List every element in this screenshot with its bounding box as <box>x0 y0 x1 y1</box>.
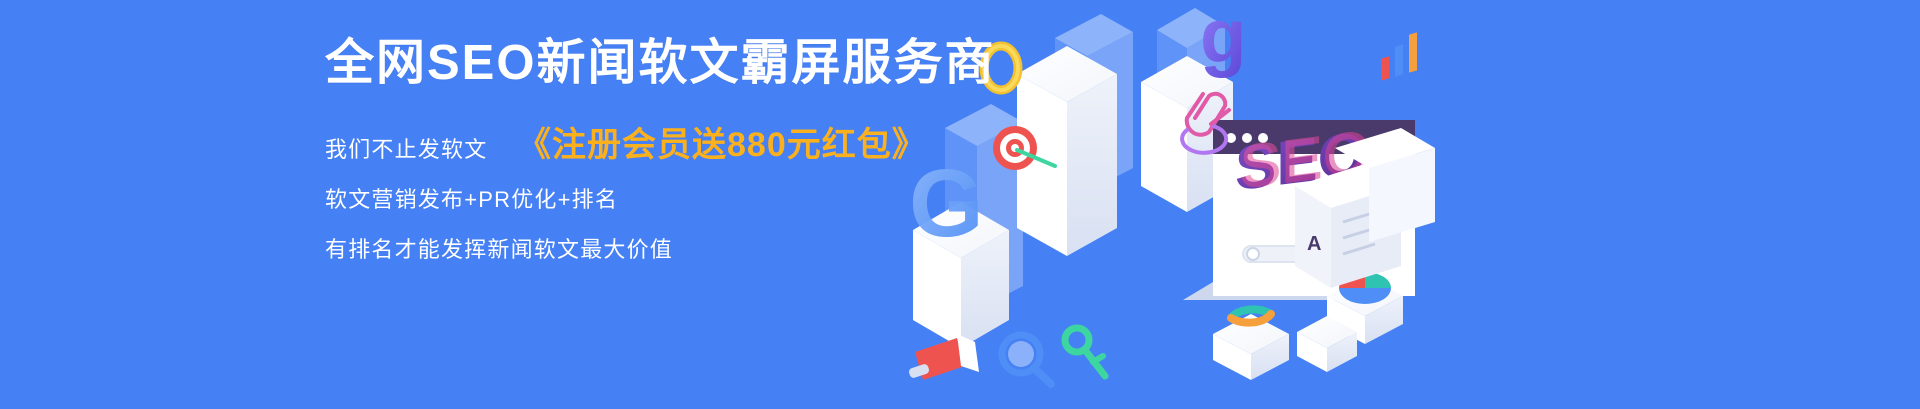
banner-row-3: 有排名才能发挥新闻软文最大价值 <box>325 225 945 275</box>
svg-text:g: g <box>1200 0 1246 79</box>
banner-line-2: 软文营销发布+PR优化+排名 <box>325 187 618 212</box>
magnifier-icon <box>1002 335 1051 384</box>
chart-bar-1 <box>1381 56 1389 80</box>
seo-promo-banner: 全网SEO新闻软文霸屏服务商 我们不止发软文 《注册会员送880元红包》 软文营… <box>0 0 1920 409</box>
key-icon <box>1065 328 1105 376</box>
banner-row-2: 软文营销发布+PR优化+排名 <box>325 175 945 225</box>
banner-subtext-group: 我们不止发软文 《注册会员送880元红包》 软文营销发布+PR优化+排名 有排名… <box>325 125 945 275</box>
clipboard-letter-a: A <box>1307 233 1321 255</box>
banner-line-1: 我们不止发软文 <box>325 137 487 162</box>
megaphone-icon <box>908 334 979 380</box>
banner-headline: 全网SEO新闻软文霸屏服务商 <box>325 36 945 91</box>
banner-row-1: 我们不止发软文 《注册会员送880元红包》 <box>325 125 945 175</box>
promo-highlight[interactable]: 《注册会员送880元红包》 <box>517 120 927 170</box>
pedestal-mid-right-face <box>1067 74 1117 256</box>
refresh-arrows-block <box>1213 309 1289 380</box>
letter-g-small-icon: g <box>1200 0 1246 79</box>
banner-text-block: 全网SEO新闻软文霸屏服务商 我们不止发软文 《注册会员送880元红包》 软文营… <box>325 36 945 275</box>
chart-bar-2 <box>1395 44 1403 76</box>
browser-search-dot <box>1247 248 1259 260</box>
chart-bar-3 <box>1409 32 1417 72</box>
banner-line-3: 有排名才能发挥新闻软文最大价值 <box>325 237 673 262</box>
